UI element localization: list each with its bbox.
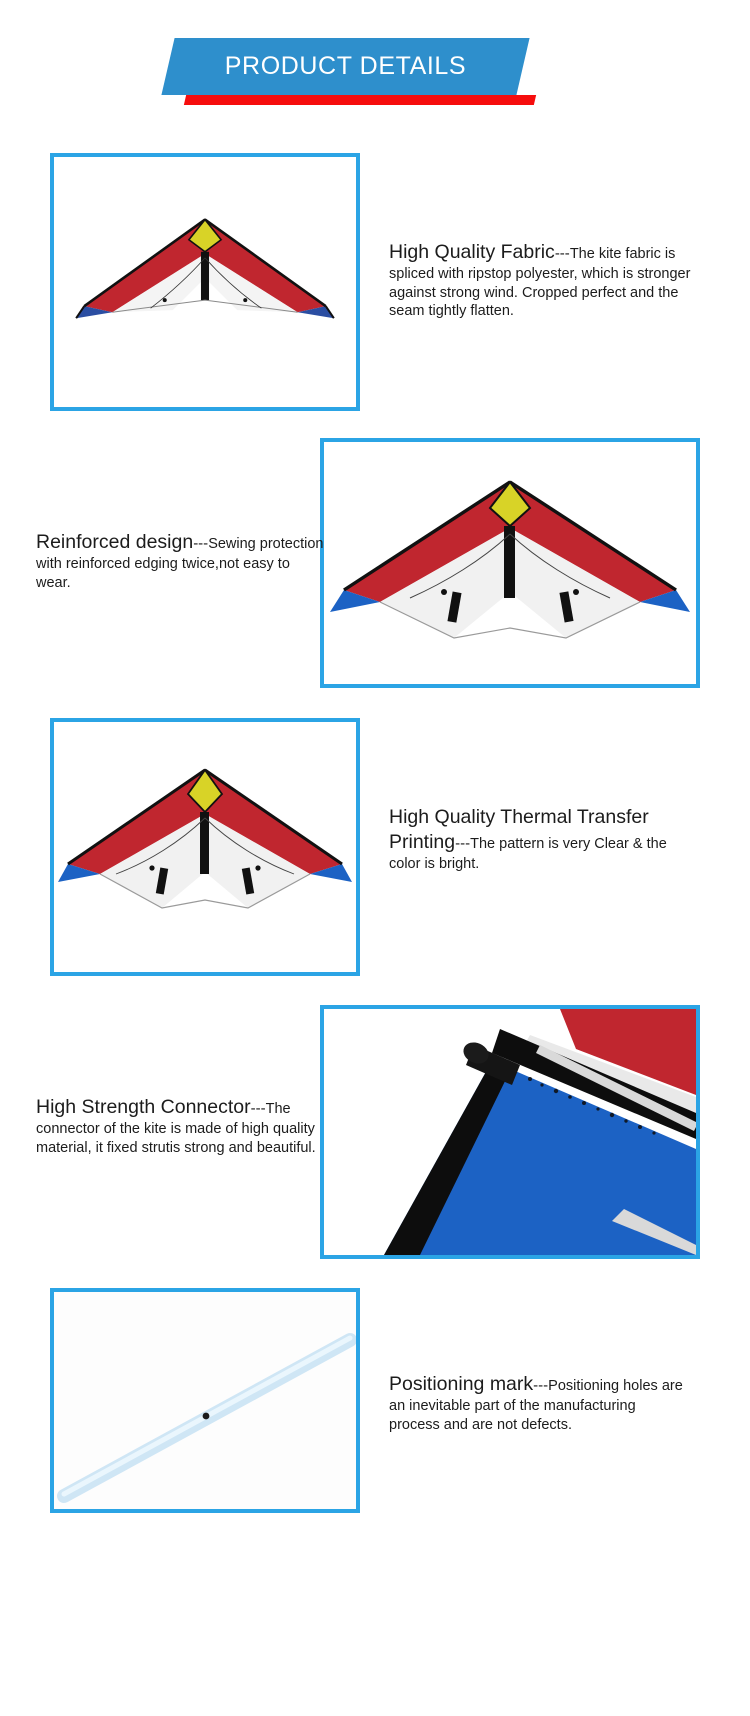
banner-red-shape (184, 95, 536, 105)
text-high-strength-connector: High Strength Connector---The connector … (36, 1095, 326, 1157)
image-frame-high-strength-connector (320, 1005, 700, 1259)
page-title: PRODUCT DETAILS (168, 38, 523, 95)
text-thermal-transfer-printing: High Quality Thermal Transfer Printing--… (389, 805, 689, 874)
image-frame-positioning-mark (50, 1288, 360, 1513)
kite-reinforced-edging-image (324, 442, 696, 684)
section-title: Reinforced design (36, 531, 193, 553)
section-separator: --- (533, 1377, 548, 1394)
text-high-quality-fabric: High Quality Fabric---The kite fabric is… (389, 240, 699, 321)
image-frame-high-quality-fabric (50, 153, 360, 411)
kite-connector-image (324, 1009, 696, 1255)
section-title: Positioning mark (389, 1373, 533, 1395)
kite-full-view-image (54, 157, 356, 407)
section-title: High Strength Connector (36, 1096, 251, 1118)
image-frame-reinforced-design (320, 438, 700, 688)
text-reinforced-design: Reinforced design---Sewing protection wi… (36, 530, 326, 592)
product-details-page: PRODUCT DETAILS (0, 0, 750, 1716)
text-positioning-mark: Positioning mark---Positioning holes are… (389, 1372, 689, 1434)
kite-printed-pattern-image (54, 722, 356, 972)
section-separator: --- (555, 245, 570, 262)
image-frame-thermal-transfer-printing (50, 718, 360, 976)
section-separator: --- (455, 835, 470, 852)
section-separator: --- (193, 535, 208, 552)
section-separator: --- (251, 1100, 266, 1117)
page-header-banner: PRODUCT DETAILS (0, 38, 750, 130)
kite-rod-positioning-mark-image (54, 1292, 356, 1509)
section-title: High Quality Fabric (389, 241, 555, 263)
